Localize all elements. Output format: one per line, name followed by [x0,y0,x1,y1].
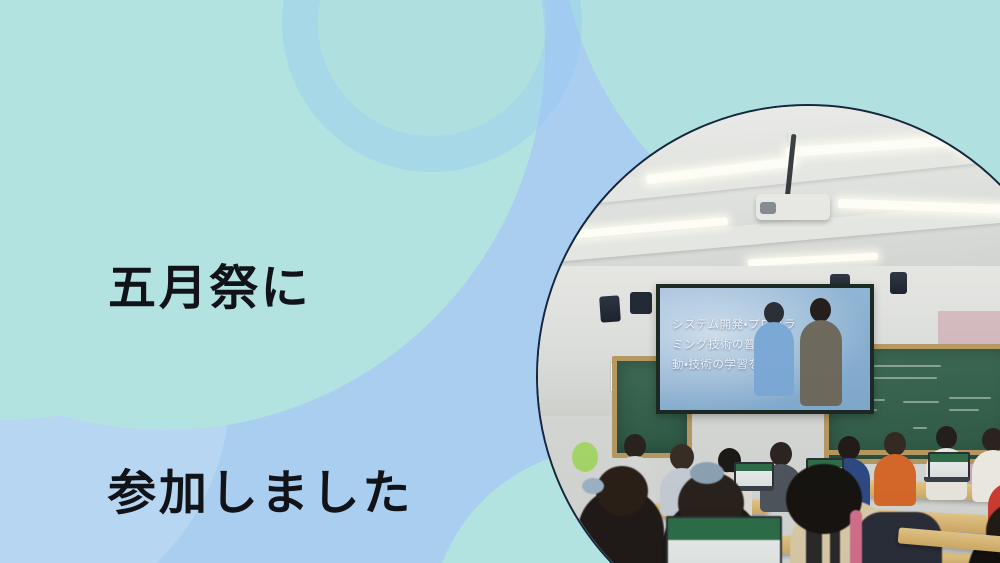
standing-person-body [800,320,842,406]
student-head [838,436,860,460]
foreground-student-left-head [596,466,648,516]
student-head [670,444,694,470]
green-balloon [572,442,598,472]
chalk-mark [949,409,979,411]
slide-headline: 五月祭に 参加しました [108,118,413,563]
wall-speaker [599,295,621,322]
headline-line-2: 参加しました [108,459,413,527]
student-head [884,432,906,456]
photo-inner-frame: システム開発・プログラ ミング技術の普及の活 動・技術の学習をして [538,106,1000,563]
hair-scrunchie [690,462,724,484]
wall-speaker [890,272,907,294]
slide-canvas: 五月祭に 参加しました [0,0,1000,563]
hair-scrunchie [582,478,604,494]
student-body [874,454,916,506]
headline-line-1: 五月祭に [108,254,413,322]
student-head [982,428,1000,452]
foreground-laptop-screen [666,516,782,563]
standing-person-body [754,322,794,396]
chalk-mark [913,427,927,429]
projector-lens-icon [760,202,776,214]
laptop-base [924,477,970,482]
chalk-mark [903,401,939,403]
classroom-scene: システム開発・プログラ ミング技術の普及の活 動・技術の学習をして [538,106,1000,563]
wall-speaker [630,292,652,314]
standing-person-head [764,302,784,324]
soft-blue-blob-decoration [318,0,550,136]
backpack-strap [850,510,862,563]
circular-photo: システム開発・プログラ ミング技術の普及の活 動・技術の学習をして [536,104,1000,563]
student-head [936,426,957,449]
chalk-mark [949,397,991,399]
student-head [624,434,646,458]
standing-person-head [810,298,831,322]
